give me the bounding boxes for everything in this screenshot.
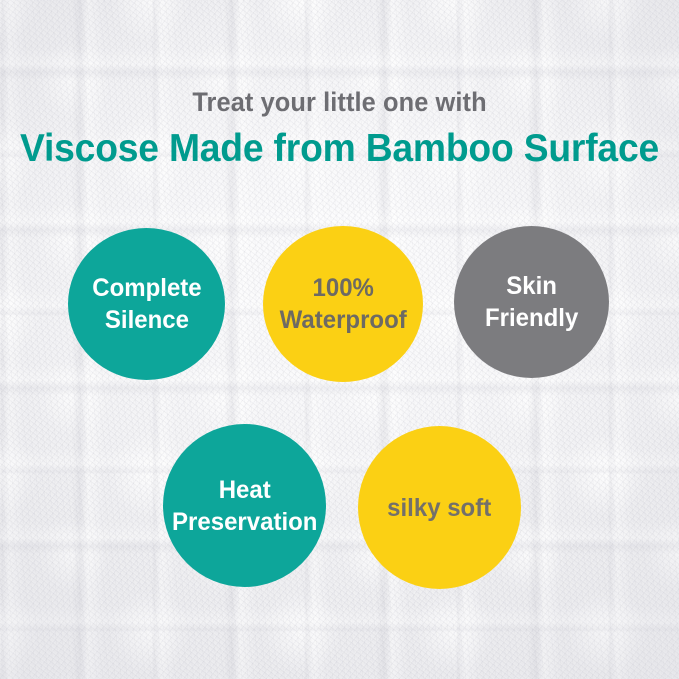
- headline-block: Treat your little one with Viscose Made …: [0, 88, 679, 170]
- feature-line-1: Skin: [506, 272, 557, 300]
- feature-label-skin-friendly: Skin Friendly: [485, 270, 578, 334]
- feature-label-heat-preservation: Heat Preservation: [172, 474, 317, 538]
- feature-label-silky-soft: silky soft: [387, 492, 491, 524]
- product-feature-infographic: Treat your little one with Viscose Made …: [0, 0, 679, 679]
- feature-label-complete-silence: Complete Silence: [92, 272, 201, 336]
- feature-line-1: 100%: [312, 274, 373, 302]
- feature-line-2: Waterproof: [279, 306, 406, 334]
- feature-line-1: Complete: [92, 274, 201, 302]
- feature-line-2: Preservation: [172, 508, 317, 536]
- feature-line-1: silky soft: [387, 494, 491, 522]
- page-title: Viscose Made from Bamboo Surface: [15, 129, 663, 170]
- feature-circle-waterproof: 100% Waterproof: [263, 226, 423, 382]
- feature-circle-heat-preservation: Heat Preservation: [163, 424, 326, 587]
- feature-circle-complete-silence: Complete Silence: [68, 228, 225, 380]
- feature-circle-silky-soft: silky soft: [358, 426, 521, 589]
- feature-line-2: Silence: [104, 306, 188, 334]
- feature-label-waterproof: 100% Waterproof: [279, 272, 406, 336]
- feature-line-1: Heat: [218, 476, 270, 504]
- feature-line-2: Friendly: [485, 304, 578, 332]
- eyebrow-text: Treat your little one with: [20, 88, 658, 116]
- feature-circle-skin-friendly: Skin Friendly: [454, 226, 609, 378]
